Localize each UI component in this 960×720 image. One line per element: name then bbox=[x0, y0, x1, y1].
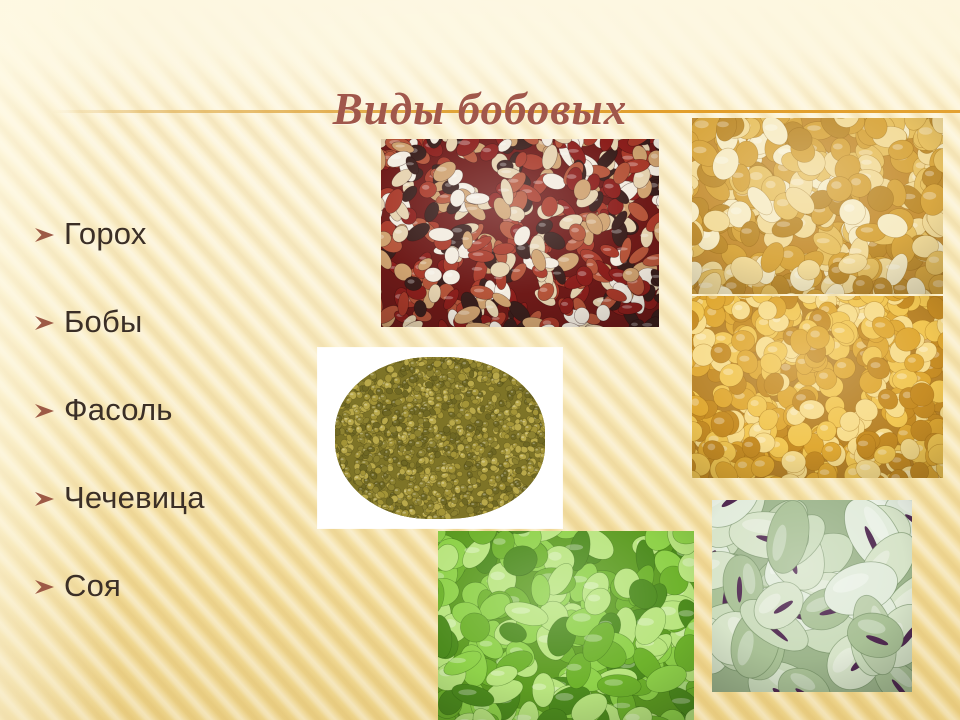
photo-fava bbox=[712, 500, 912, 692]
photo-lentils bbox=[318, 348, 562, 528]
arrowhead-bullet-icon bbox=[34, 313, 64, 333]
list-item-label: Горох bbox=[64, 216, 147, 252]
list-item: Соя bbox=[34, 542, 334, 630]
arrowhead-bullet-icon bbox=[34, 225, 64, 245]
list-item-label: Чечевица bbox=[64, 480, 205, 516]
list-item: Бобы bbox=[34, 278, 334, 366]
arrowhead-bullet-icon bbox=[34, 577, 64, 597]
arrowhead-bullet-icon bbox=[34, 401, 64, 421]
list-item: Чечевица bbox=[34, 454, 334, 542]
legume-types-list: Горох Бобы Фасоль Че bbox=[34, 190, 334, 630]
photo-mixed-beans bbox=[381, 139, 659, 327]
arrowhead-bullet-icon bbox=[34, 489, 64, 509]
photo-split-peas bbox=[692, 118, 943, 294]
list-item: Фасоль bbox=[34, 366, 334, 454]
list-item-label: Бобы bbox=[64, 304, 142, 340]
list-item-label: Соя bbox=[64, 568, 121, 604]
slide-canvas: Виды бобовых Горох Бобы bbox=[0, 0, 960, 720]
lentil-pile bbox=[335, 357, 545, 519]
list-item: Горох bbox=[34, 190, 334, 278]
photo-whole-peas bbox=[692, 296, 943, 478]
photo-soybeans bbox=[438, 531, 694, 720]
list-item-label: Фасоль bbox=[64, 392, 173, 428]
